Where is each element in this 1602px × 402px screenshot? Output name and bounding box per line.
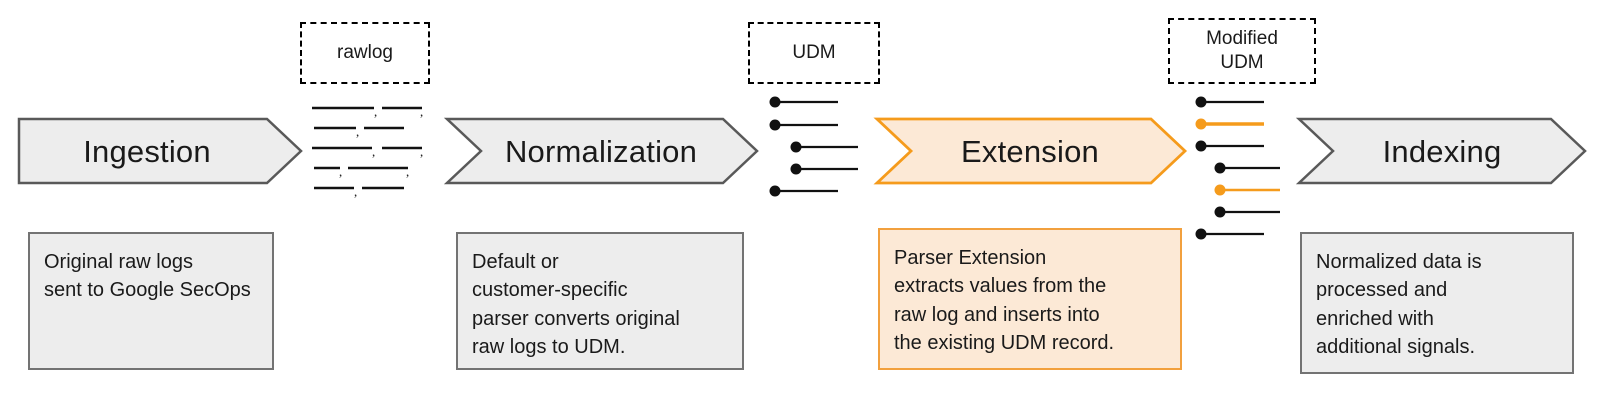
stage-label-normalization: Normalization bbox=[505, 136, 697, 167]
stage-extension[interactable]: Extension bbox=[876, 118, 1186, 184]
artifact-box-modified-udm: Modified UDM bbox=[1168, 18, 1316, 84]
artifact-label-udm: UDM bbox=[792, 41, 835, 65]
stage-label-ingestion: Ingestion bbox=[83, 136, 211, 167]
artifact-box-rawlog: rawlog bbox=[300, 22, 430, 84]
artifact-box-udm: UDM bbox=[748, 22, 880, 84]
svg-text:,: , bbox=[420, 104, 423, 119]
svg-text:,: , bbox=[420, 144, 423, 159]
description-normalization: Default or customer-specific parser conv… bbox=[456, 232, 744, 370]
stage-normalization[interactable]: Normalization bbox=[446, 118, 758, 184]
svg-text:,: , bbox=[406, 164, 409, 179]
svg-text:,: , bbox=[354, 184, 357, 199]
modified-udm-artwork bbox=[1192, 94, 1292, 236]
description-text-normalization: Default or customer-specific parser conv… bbox=[472, 248, 730, 362]
rawlog-artwork: , , , , , , , , bbox=[306, 98, 424, 190]
svg-text:,: , bbox=[372, 144, 375, 159]
description-text-indexing: Normalized data is processed and enriche… bbox=[1316, 248, 1560, 362]
description-ingestion: Original raw logs sent to Google SecOps bbox=[28, 232, 274, 370]
stage-ingestion[interactable]: Ingestion bbox=[18, 118, 302, 184]
svg-text:,: , bbox=[374, 104, 377, 119]
stage-label-indexing: Indexing bbox=[1383, 136, 1502, 167]
description-indexing: Normalized data is processed and enriche… bbox=[1300, 232, 1574, 374]
pipeline-diagram: rawlog UDM Modified UDM Ingestion bbox=[0, 0, 1602, 402]
description-text-extension: Parser Extension extracts values from th… bbox=[894, 244, 1168, 358]
svg-text:,: , bbox=[356, 124, 359, 139]
description-extension: Parser Extension extracts values from th… bbox=[878, 228, 1182, 370]
stage-label-extension: Extension bbox=[961, 136, 1099, 167]
description-text-ingestion: Original raw logs sent to Google SecOps bbox=[44, 248, 260, 305]
artifact-label-modified-udm: Modified UDM bbox=[1206, 27, 1278, 75]
artifact-label-rawlog: rawlog bbox=[337, 41, 393, 65]
svg-text:,: , bbox=[339, 164, 342, 179]
udm-artwork bbox=[766, 94, 866, 198]
stage-indexing[interactable]: Indexing bbox=[1298, 118, 1586, 184]
